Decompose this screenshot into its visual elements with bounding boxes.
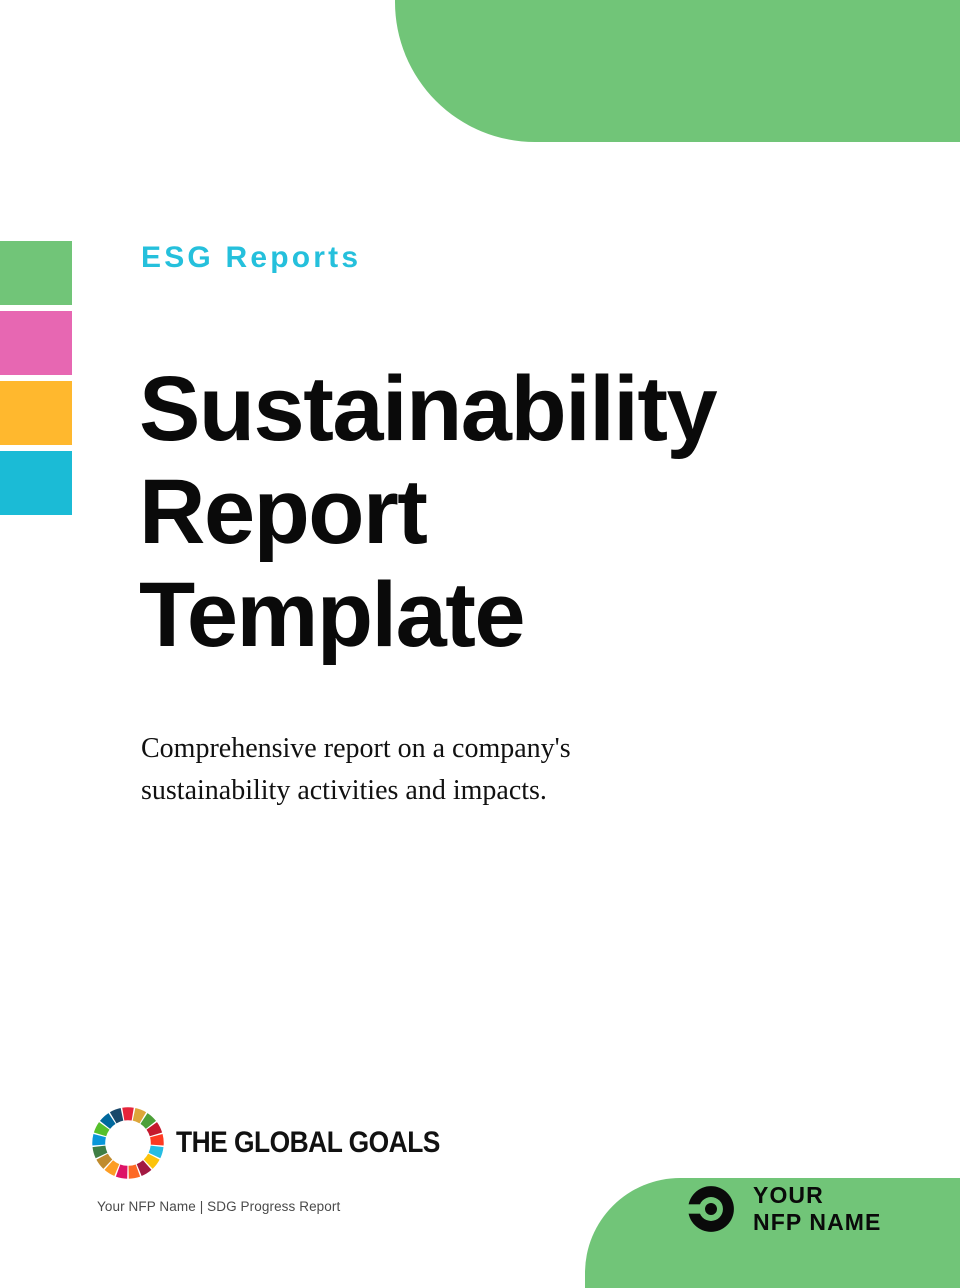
sdg-wheel-segment bbox=[92, 1134, 106, 1145]
page-subtitle-line-1: Comprehensive report on a company's bbox=[141, 728, 853, 770]
page-title: Sustainability Report Template bbox=[139, 358, 879, 667]
decorative-shape-top-right bbox=[395, 0, 960, 142]
report-cover-page: { "document": { "eyebrow": "ESG Reports"… bbox=[0, 0, 960, 1243]
color-swatch-pink bbox=[0, 311, 72, 375]
page-subtitle: Comprehensive report on a company's sust… bbox=[141, 728, 853, 812]
sdg-wordmark: THE GLOBAL GOALS bbox=[176, 1126, 440, 1160]
page-title-line-3: Template bbox=[139, 564, 879, 667]
page-subtitle-line-2: sustainability activities and impacts. bbox=[141, 770, 853, 812]
sdg-color-wheel-icon bbox=[90, 1105, 166, 1181]
footer-caption: Your NFP Name | SDG Progress Report bbox=[97, 1199, 340, 1214]
brand-name: YOUR NFP NAME bbox=[753, 1182, 882, 1236]
brand-badge: YOUR NFP NAME bbox=[685, 1182, 882, 1236]
sdg-wheel-segment bbox=[150, 1134, 164, 1145]
category-eyebrow: ESG Reports bbox=[141, 243, 361, 273]
brand-name-line-2: NFP NAME bbox=[753, 1209, 882, 1236]
page-title-line-1: Sustainability bbox=[139, 358, 879, 461]
page-title-line-2: Report bbox=[139, 461, 879, 564]
color-swatch-yellow bbox=[0, 381, 72, 445]
brand-name-line-1: YOUR bbox=[753, 1182, 882, 1209]
color-swatch-green bbox=[0, 241, 72, 305]
circle-dot-logo-icon bbox=[685, 1183, 737, 1235]
color-swatch-cyan bbox=[0, 451, 72, 515]
sdg-wheel-segment bbox=[122, 1107, 134, 1120]
color-swatch-stack bbox=[0, 241, 72, 515]
sdg-logo-lockup: THE GLOBAL GOALS bbox=[90, 1105, 476, 1181]
